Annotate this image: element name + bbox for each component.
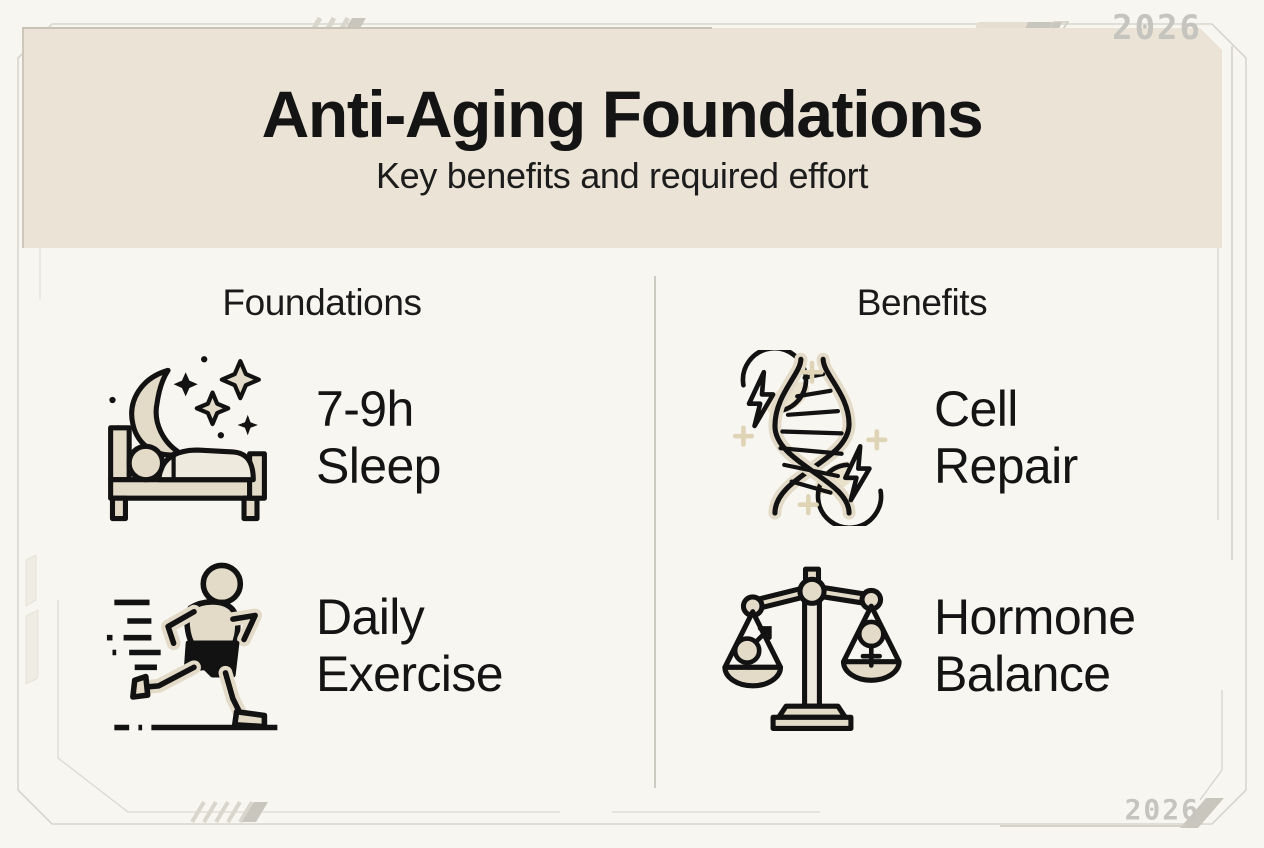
dna-helix-lightning-icon [718,350,906,526]
list-item-hormone-balance: Hormone Balance [622,542,1222,750]
list-item-sleep: 7-9h Sleep [22,334,622,542]
content-columns: Foundations [22,262,1222,807]
list-item-cell-repair: Cell Repair [622,334,1222,542]
page-subtitle: Key benefits and required effort [376,154,868,197]
running-person-icon [100,558,288,734]
foundations-rows: 7-9h Sleep [22,334,622,750]
list-item-label-sleep: 7-9h Sleep [316,381,441,495]
page-title: Anti-Aging Foundations [262,78,983,152]
header-text-group: Anti-Aging Foundations Key benefits and … [22,28,1222,248]
list-item-label-cell-repair: Cell Repair [934,381,1078,495]
balance-scale-gender-icon [718,558,906,734]
column-divider [654,276,656,788]
column-benefits: Benefits [622,262,1222,807]
column-header-benefits: Benefits [857,282,988,324]
list-item-label-exercise: Daily Exercise [316,589,503,703]
year-badge-top-right: 2026 [1112,8,1202,48]
benefits-rows: Cell Repair [622,334,1222,750]
list-item-label-hormone-balance: Hormone Balance [934,589,1135,703]
column-foundations: Foundations [22,262,622,807]
column-header-foundations: Foundations [222,282,421,324]
list-item-exercise: Daily Exercise [22,542,622,750]
poster-canvas: Anti-Aging Foundations Key benefits and … [0,0,1264,848]
sleep-moon-bed-icon [100,350,288,526]
